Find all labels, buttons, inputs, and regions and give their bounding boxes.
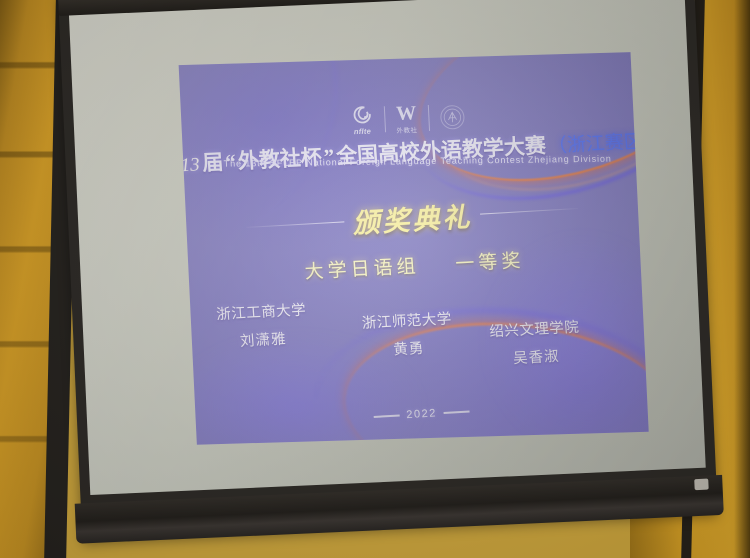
year-label: 2022: [406, 407, 437, 421]
winner-school: 浙江师范大学: [361, 307, 452, 333]
winner-school: 浙江工商大学: [216, 298, 307, 324]
screen-pull-knob[interactable]: [694, 479, 708, 491]
ceremony-heading: 颁奖典礼: [351, 195, 474, 241]
waijiaoshe-logo: W 外教社: [395, 103, 417, 135]
winner-entry: 浙江工商大学 刘潇雅: [216, 298, 309, 352]
winner-school: 绍兴文理学院: [489, 316, 580, 342]
title-edition-number: 13: [179, 154, 202, 177]
nflte-logo: nflte: [350, 104, 374, 137]
seal-logo: [439, 105, 464, 130]
waijiaoshe-logo-mark: W: [396, 103, 417, 124]
logo-divider-1: [383, 106, 385, 132]
year-rule-left: [373, 415, 399, 418]
winner-name: 刘潇雅: [218, 326, 309, 352]
nflte-logo-label: nflte: [354, 127, 372, 136]
winner-entry: 浙江师范大学 黄勇: [361, 307, 454, 361]
right-wall-shadow: [734, 0, 750, 558]
winner-name: 吴香淑: [491, 344, 582, 370]
winner-name: 黄勇: [363, 335, 454, 361]
screen-surface: nflte W 外教社: [69, 0, 706, 495]
winner-entry: 绍兴文理学院 吴香淑: [489, 316, 582, 370]
projected-slide: nflte W 外教社: [179, 52, 649, 445]
spiral-icon: [350, 104, 373, 127]
logo-divider-2: [427, 105, 429, 131]
winners-list: 浙江工商大学 刘潇雅 浙江师范大学 黄勇 绍兴文理学院 吴香淑: [216, 291, 625, 413]
ceremony-rule-left: [247, 221, 345, 228]
ceremony-rule-right: [480, 208, 578, 215]
seal-icon: [441, 107, 462, 128]
waijiaoshe-logo-label: 外教社: [396, 124, 417, 135]
projector-screen: nflte W 外教社: [58, 0, 718, 541]
year-rule-right: [444, 411, 470, 414]
category-prize: 一等奖: [454, 246, 525, 277]
category-group: 大学日语组: [304, 251, 421, 284]
room-scene: nflte W 外教社: [0, 0, 750, 558]
